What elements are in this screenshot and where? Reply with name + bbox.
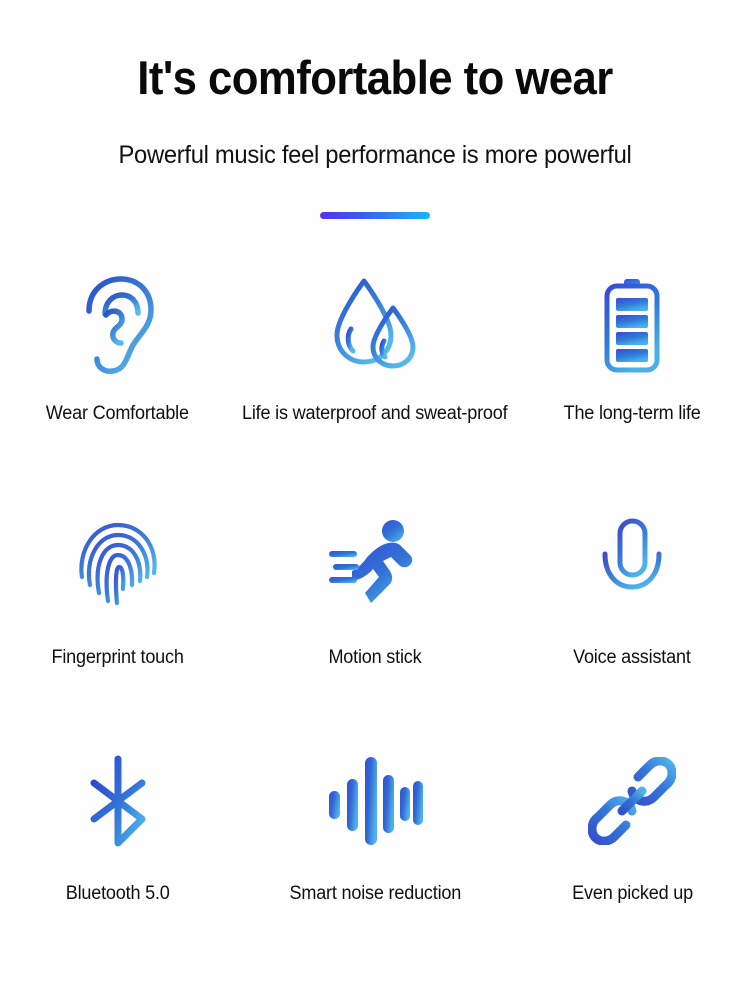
bluetooth-icon: [80, 747, 156, 855]
feature-cell-noise-reduction[interactable]: Smart noise reduction: [235, 747, 514, 985]
feature-cell-waterproof[interactable]: Life is waterproof and sweat-proof: [235, 271, 514, 509]
running-person-icon: [327, 509, 423, 617]
page-header: It's comfortable to wear Powerful music …: [0, 0, 750, 219]
microphone-icon: [595, 509, 669, 617]
feature-label: The long-term life: [564, 403, 701, 425]
feature-label: Life is waterproof and sweat-proof: [242, 403, 507, 425]
feature-cell-motion-stick[interactable]: Motion stick: [235, 509, 514, 747]
feature-cell-fingerprint-touch[interactable]: Fingerprint touch: [0, 509, 235, 747]
feature-label: Bluetooth 5.0: [66, 883, 170, 905]
feature-cell-voice-assistant[interactable]: Voice assistant: [515, 509, 750, 747]
sound-wave-icon: [325, 747, 425, 855]
feature-label: Fingerprint touch: [52, 647, 184, 669]
ear-icon: [75, 271, 161, 379]
page-subtitle: Powerful music feel performance is more …: [19, 141, 732, 170]
chain-link-icon: [588, 747, 676, 855]
battery-icon: [601, 271, 663, 379]
feature-label: Wear Comfortable: [46, 403, 189, 425]
feature-cell-wear-comfortable[interactable]: Wear Comfortable: [0, 271, 235, 509]
page-title: It's comfortable to wear: [26, 52, 724, 105]
gradient-divider: [320, 212, 430, 219]
feature-label: Smart noise reduction: [289, 883, 461, 905]
feature-label: Voice assistant: [574, 647, 692, 669]
feature-cell-picked-up[interactable]: Even picked up: [515, 747, 750, 985]
fingerprint-icon: [76, 509, 160, 617]
feature-cell-long-term-life[interactable]: The long-term life: [515, 271, 750, 509]
feature-label: Even picked up: [572, 883, 693, 905]
feature-cell-bluetooth[interactable]: Bluetooth 5.0: [0, 747, 235, 985]
feature-label: Motion stick: [328, 647, 421, 669]
feature-grid: Wear Comfortable: [0, 271, 750, 985]
product-feature-page: It's comfortable to wear Powerful music …: [0, 0, 750, 991]
divider-container: [0, 212, 750, 219]
water-drops-icon: [327, 271, 423, 379]
